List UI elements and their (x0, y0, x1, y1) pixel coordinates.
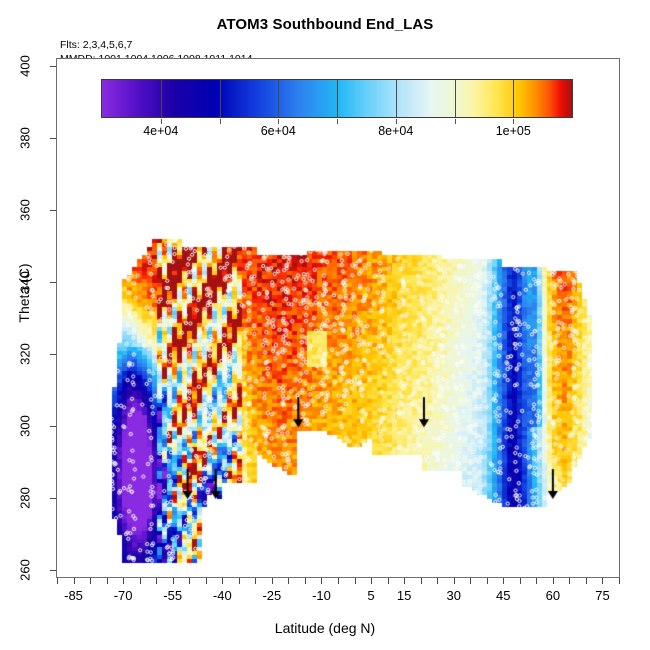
y-axis-label: Theta (C) (16, 223, 32, 363)
y-axis-tick (50, 570, 56, 571)
colorbar-tick (337, 80, 338, 117)
x-axis-tick (569, 578, 570, 584)
y-axis-tick-label: 380 (18, 121, 33, 155)
x-axis-tick (123, 578, 124, 584)
x-axis-tick-label: -10 (312, 588, 331, 603)
x-axis-tick (321, 578, 322, 584)
x-axis-tick (388, 578, 389, 584)
colorbar-tick-label: 8e+04 (378, 124, 413, 138)
x-axis-tick (272, 578, 273, 584)
colorbar-tick-label: 1e+05 (496, 124, 531, 138)
x-axis-tick-label: -55 (163, 588, 182, 603)
colorbar-tick (455, 80, 456, 117)
y-axis-tick-label: 300 (18, 409, 33, 443)
x-axis-tick (288, 578, 289, 584)
colorbar-tick (396, 80, 397, 117)
x-axis-tick (553, 578, 554, 584)
page-title: ATOM3 Southbound End_LAS (0, 16, 650, 33)
x-axis-tick (206, 578, 207, 584)
x-axis-tick (454, 578, 455, 584)
x-axis-tick (404, 578, 405, 584)
y-axis-tick-label: 260 (18, 553, 33, 587)
y-axis-tick (50, 282, 56, 283)
x-axis-tick (222, 578, 223, 584)
flights-annotation: Flts: 2,3,4,5,6,7 (60, 38, 252, 52)
x-axis-tick (107, 578, 108, 584)
colorbar-tick (161, 80, 162, 117)
x-axis-tick (437, 578, 438, 584)
y-axis-tick-label: 360 (18, 193, 33, 227)
x-axis-tick (602, 578, 603, 584)
x-axis-tick-label: 60 (546, 588, 560, 603)
x-axis-tick (487, 578, 488, 584)
x-axis-tick-label: 15 (397, 588, 411, 603)
x-axis-tick (371, 578, 372, 584)
x-axis-tick (338, 578, 339, 584)
colorbar-tick-mark (337, 119, 338, 124)
x-axis-tick-label: -40 (213, 588, 232, 603)
x-axis-tick (536, 578, 537, 584)
x-axis-tick-label: -85 (64, 588, 83, 603)
plot-page: ATOM3 Southbound End_LAS Flts: 2,3,4,5,6… (0, 0, 650, 650)
x-axis-tick (74, 578, 75, 584)
x-axis-tick (57, 578, 58, 584)
x-axis-tick (140, 578, 141, 584)
x-axis-tick (421, 578, 422, 584)
x-axis-tick (355, 578, 356, 584)
x-axis-tick-label: 5 (367, 588, 374, 603)
y-axis-tick (50, 66, 56, 67)
y-axis-tick (50, 138, 56, 139)
x-axis-tick (189, 578, 190, 584)
x-axis-tick (503, 578, 504, 584)
colorbar-tick-mark (455, 119, 456, 124)
colorbar-tick-label: 6e+04 (261, 124, 296, 138)
x-axis-tick (470, 578, 471, 584)
y-axis-tick-label: 280 (18, 481, 33, 515)
x-axis-tick-label: 30 (446, 588, 460, 603)
y-axis-tick-label: 400 (18, 49, 33, 83)
x-axis-tick (156, 578, 157, 584)
heatmap-canvas[interactable] (57, 59, 619, 577)
y-axis-tick (50, 498, 56, 499)
x-axis-label: Latitude (deg N) (0, 620, 650, 636)
x-axis-tick-label: 75 (595, 588, 609, 603)
x-axis-tick (520, 578, 521, 584)
colorbar-tick (220, 80, 221, 117)
y-axis-tick (50, 426, 56, 427)
colorbar-tick-mark (220, 119, 221, 124)
x-axis-tick (305, 578, 306, 584)
colorbar-tick-label: 4e+04 (143, 124, 178, 138)
x-axis-tick (90, 578, 91, 584)
y-axis-tick (50, 354, 56, 355)
x-axis-tick (619, 578, 620, 584)
x-axis-tick-label: 45 (496, 588, 510, 603)
x-axis-tick-label: -25 (262, 588, 281, 603)
y-axis-tick (50, 210, 56, 211)
x-axis-tick-label: -70 (114, 588, 133, 603)
x-axis-tick (239, 578, 240, 584)
x-axis-tick (173, 578, 174, 584)
colorbar-tick (278, 80, 279, 117)
x-axis-tick (586, 578, 587, 584)
colorbar-tick (513, 80, 514, 117)
x-axis-tick (255, 578, 256, 584)
